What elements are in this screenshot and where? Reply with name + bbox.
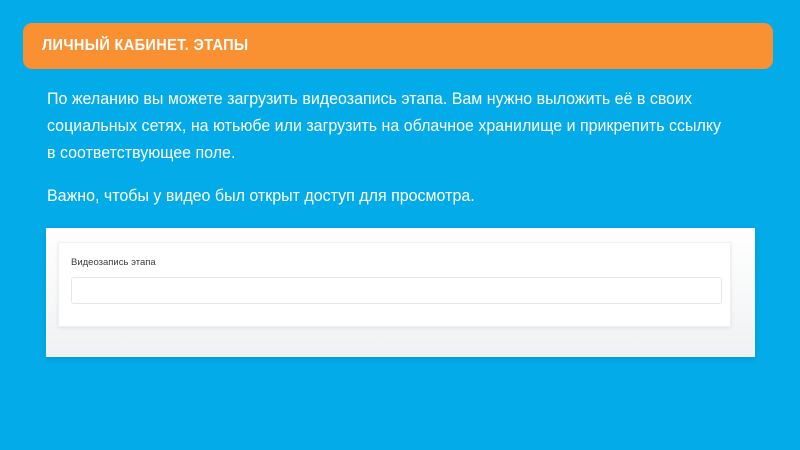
- video-link-input[interactable]: [71, 277, 722, 304]
- body-copy: По желанию вы можете загрузить видеозапи…: [47, 86, 747, 210]
- form-panel: Видеозапись этапа: [46, 228, 755, 357]
- page-title: ЛИЧНЫЙ КАБИНЕТ. ЭТАПЫ: [42, 37, 249, 55]
- video-link-label: Видеозапись этапа: [71, 256, 720, 269]
- header-banner: ЛИЧНЫЙ КАБИНЕТ. ЭТАПЫ: [23, 23, 773, 69]
- paragraph-note: Важно, чтобы у видео был открыт доступ д…: [47, 183, 726, 210]
- paragraph-instructions: По желанию вы можете загрузить видеозапи…: [47, 86, 726, 167]
- video-link-field-group: Видеозапись этапа: [71, 256, 720, 304]
- slide-root: ЛИЧНЫЙ КАБИНЕТ. ЭТАПЫ По желанию вы може…: [0, 0, 800, 450]
- form-card: Видеозапись этапа: [58, 242, 731, 327]
